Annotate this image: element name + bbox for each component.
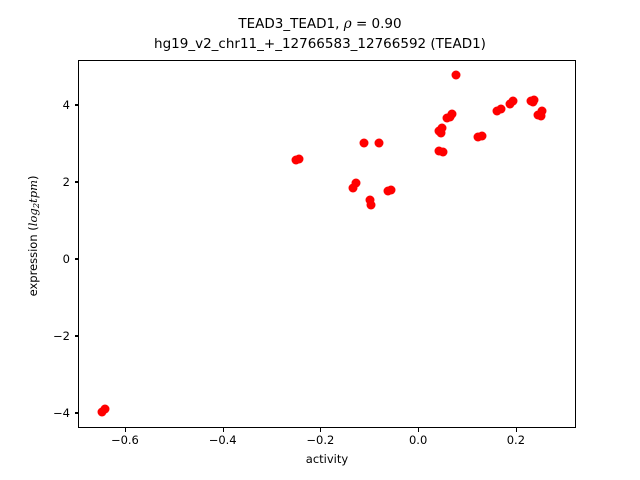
y-tick-label: 0 [14,252,70,266]
scatter-point [436,128,445,137]
chart-title-line-2: hg19_v2_chr11_+_12766583_12766592 (TEAD1… [0,34,640,54]
scatter-point [438,147,447,156]
y-tick-mark [75,181,79,182]
x-tick-mark [516,428,517,432]
x-tick-mark [418,428,419,432]
chart-title-prefix: TEAD3_TEAD1, [238,16,343,32]
y-axis-label-subscript: 2 [32,203,42,208]
y-axis-label-log: log [26,208,40,226]
x-tick-mark [320,428,321,432]
rho-symbol: ρ [344,16,352,32]
chart-title: TEAD3_TEAD1, ρ = 0.90 hg19_v2_chr11_+_12… [0,14,640,54]
x-tick-label: −0.2 [290,433,350,447]
x-tick-label: −0.4 [193,433,253,447]
chart-title-rho-value: = 0.90 [352,16,402,32]
plot-area [79,61,575,427]
scatter-plot-figure: TEAD3_TEAD1, ρ = 0.90 hg19_v2_chr11_+_12… [0,0,640,480]
scatter-point [386,185,395,194]
x-axis-label: activity [78,452,576,466]
scatter-point [100,405,109,414]
scatter-point [367,200,376,209]
chart-title-line-1: TEAD3_TEAD1, ρ = 0.90 [0,14,640,34]
y-axis-label: expression (log2tpm) [26,71,42,401]
y-tick-mark [75,412,79,413]
y-tick-mark [75,258,79,259]
scatter-point [477,132,486,141]
y-axis-label-unit: tpm [26,180,40,203]
y-tick-label: −2 [14,329,70,343]
y-axis-label-suffix: ) [26,175,40,180]
y-tick-label: 2 [14,175,70,189]
scatter-point [295,154,304,163]
scatter-point [538,106,547,115]
axes-frame [78,60,576,428]
x-tick-mark [223,428,224,432]
scatter-point [374,138,383,147]
y-tick-label: 4 [14,98,70,112]
scatter-point [360,138,369,147]
scatter-point [508,97,517,106]
y-axis-label-prefix: expression ( [26,226,40,296]
y-tick-label: −4 [14,406,70,420]
x-tick-mark [125,428,126,432]
x-tick-label: 0.0 [388,433,448,447]
scatter-point [443,114,452,123]
scatter-point [497,105,506,114]
scatter-point [351,179,360,188]
y-tick-mark [75,104,79,105]
y-tick-mark [75,335,79,336]
scatter-point [528,98,537,107]
x-tick-label: 0.2 [486,433,546,447]
x-tick-label: −0.6 [95,433,155,447]
scatter-point [451,71,460,80]
